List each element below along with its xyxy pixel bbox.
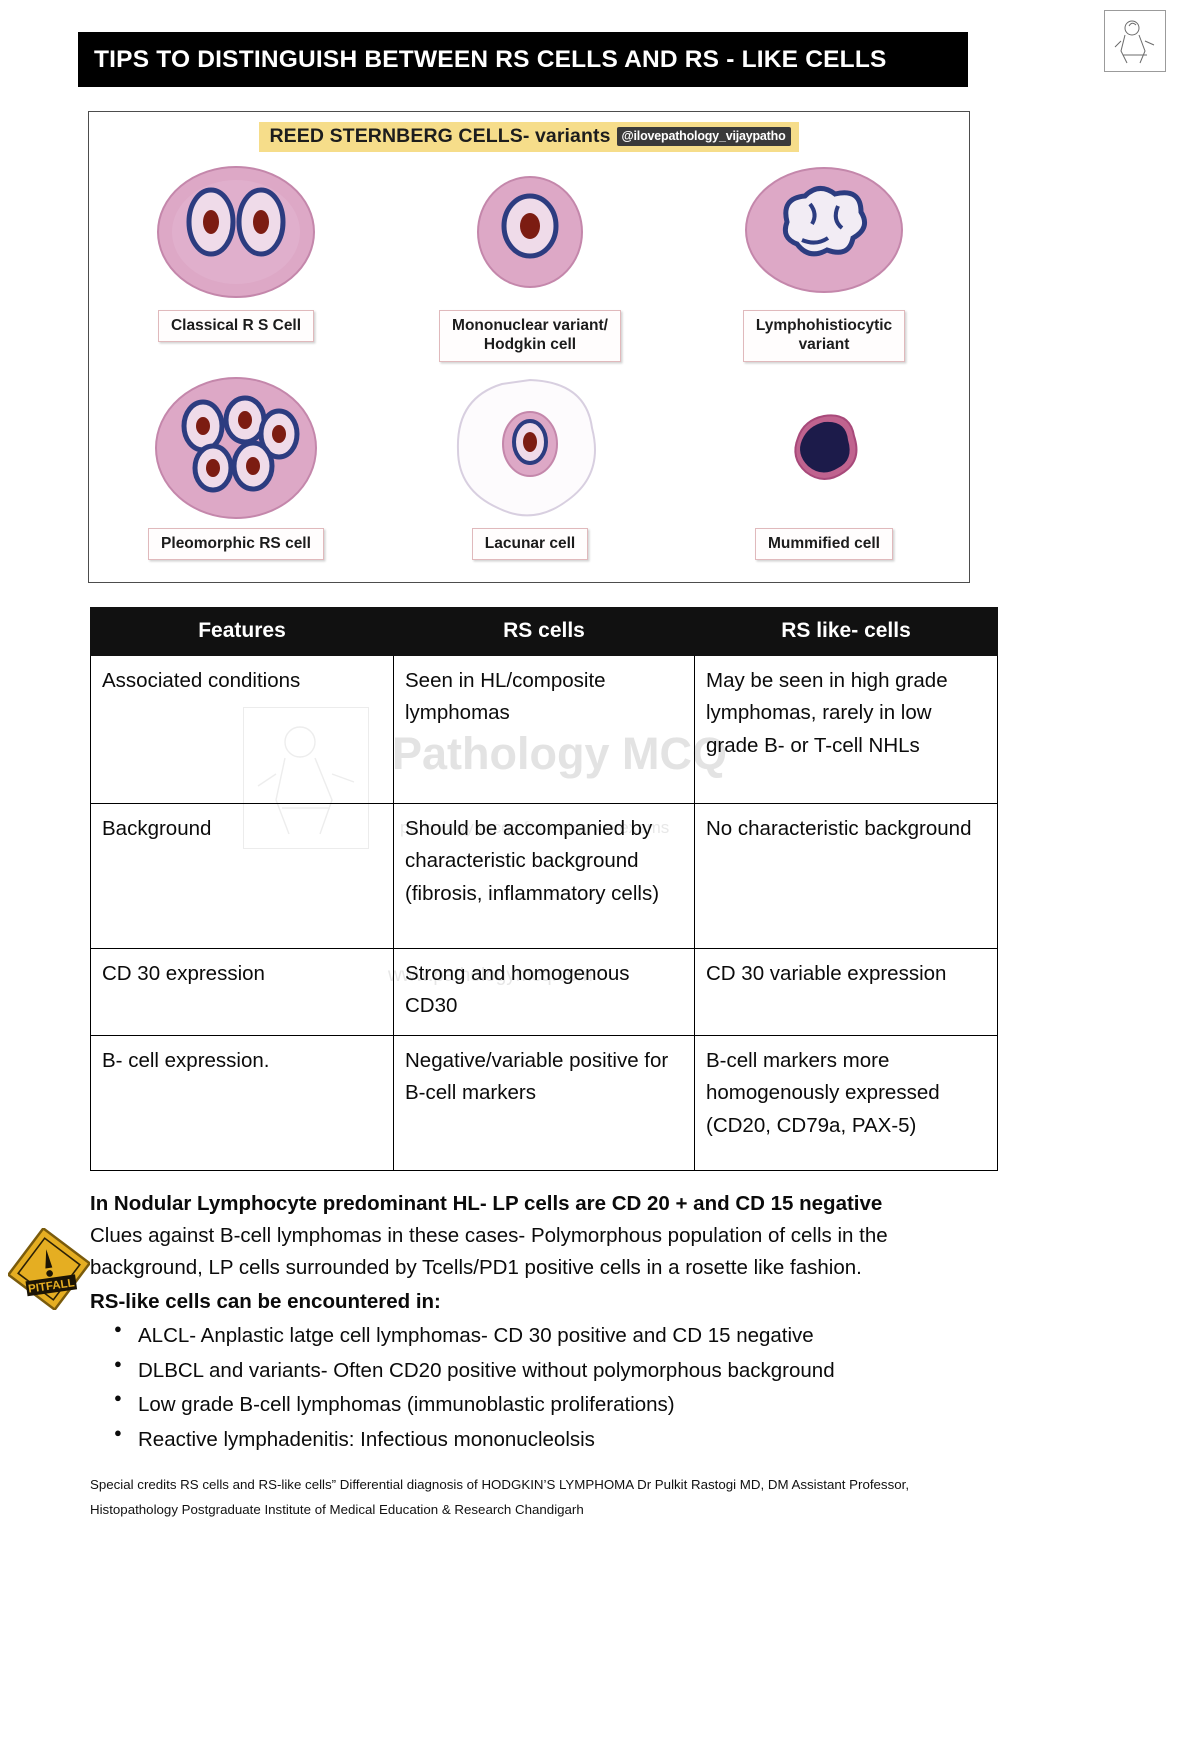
pitfall-badge: PITFALL [8, 1228, 90, 1310]
column-header-features: Features [91, 608, 394, 656]
binucleate-rs-cell-art [89, 160, 383, 310]
cell-feature: Associated conditions [91, 656, 394, 804]
cell-rs-like: No characteristic background [695, 804, 998, 949]
pitfall-heading: In Nodular Lymphocyte predominant HL- LP… [90, 1188, 980, 1220]
cell-feature: B- cell expression. [91, 1035, 394, 1170]
rs-like-conditions-list: ALCL- Anplastic latge cell lymphomas- CD… [90, 1320, 980, 1456]
cell-rs: Should be accompanied by characteristic … [394, 804, 695, 949]
figure-title: REED STERNBERG CELLS- variants@ilovepath… [259, 122, 798, 152]
table-header: Features RS cells RS like- cells [91, 608, 998, 656]
cell-feature: CD 30 expression [91, 949, 394, 1036]
table-header-row: Features RS cells RS like- cells [91, 608, 998, 656]
page-title: TIPS TO DISTINGUISH BETWEEN RS CELLS AND… [78, 46, 887, 74]
cell-rs-like: B-cell markers more homogenously express… [695, 1035, 998, 1170]
cell-feature: Background [91, 804, 394, 949]
cell-variant-mummified: Mummified cell [677, 368, 971, 560]
cell-rs-like: May be seen in high grade lymphomas, rar… [695, 656, 998, 804]
figure-watermark-handle: @ilovepathology_vijaypatho [617, 127, 791, 146]
cell-variant-label: Mononuclear variant/ Hodgkin cell [439, 310, 621, 362]
list-item: Reactive lymphadenitis: Infectious monon… [138, 1424, 980, 1456]
cell-variant-label: Pleomorphic RS cell [148, 528, 324, 560]
cell-variant-classical-rs: Classical R S Cell [89, 160, 383, 342]
mummified-cell-art [677, 368, 971, 528]
rs-like-list-heading: RS-like cells can be encountered in: [90, 1286, 980, 1318]
mononuclear-hodgkin-cell-art [383, 160, 677, 310]
pleomorphic-multinucleate-cell-art [89, 368, 383, 528]
cell-rs-like: CD 30 variable expression [695, 949, 998, 1036]
column-header-rs-like-cells: RS like- cells [695, 608, 998, 656]
document-page: TIPS TO DISTINGUISH BETWEEN RS CELLS AND… [0, 0, 1181, 1747]
cell-variant-lacunar: Lacunar cell [383, 368, 677, 560]
table-row: Associated conditions Seen in HL/composi… [91, 656, 998, 804]
cell-variant-label: Lacunar cell [472, 528, 588, 560]
credits-footnote: Special credits RS cells and RS-like cel… [90, 1473, 950, 1522]
figure-title-text: REED STERNBERG CELLS- variants [269, 125, 610, 147]
table-row: B- cell expression. Negative/variable po… [91, 1035, 998, 1170]
cell-variant-pleomorphic-rs: Pleomorphic RS cell [89, 368, 383, 560]
cell-rs: Negative/variable positive for B-cell ma… [394, 1035, 695, 1170]
cell-rs: Seen in HL/composite lymphomas [394, 656, 695, 804]
pitfall-body: Clues against B-cell lymphomas in these … [90, 1220, 980, 1284]
page-header: TIPS TO DISTINGUISH BETWEEN RS CELLS AND… [0, 0, 1181, 108]
list-item: Low grade B-cell lymphomas (immunoblasti… [138, 1389, 980, 1421]
cell-variant-label: Lymphohistiocytic variant [743, 310, 905, 362]
cell-rs: Strong and homogenous CD30 [394, 949, 695, 1036]
list-item: ALCL- Anplastic latge cell lymphomas- CD… [138, 1320, 980, 1352]
cell-variant-grid: Classical R S Cell Mononuclear variant/ … [89, 160, 971, 580]
list-item: DLBCL and variants- Often CD20 positive … [138, 1355, 980, 1387]
cell-variant-lymphohistiocytic: Lymphohistiocytic variant [677, 160, 971, 362]
cell-variant-mononuclear-hodgkin: Mononuclear variant/ Hodgkin cell [383, 160, 677, 362]
cell-variant-label: Classical R S Cell [158, 310, 314, 342]
lacunar-cell-art [383, 368, 677, 528]
pathology-mcq-logo-icon [1104, 10, 1166, 72]
table-row: Background Should be accompanied by char… [91, 804, 998, 949]
lymphohistiocytic-popcorn-cell-art [677, 160, 971, 310]
pitfall-text-block: In Nodular Lymphocyte predominant HL- LP… [90, 1188, 980, 1522]
figure-title-row: REED STERNBERG CELLS- variants@ilovepath… [89, 122, 969, 152]
table-body: Associated conditions Seen in HL/composi… [91, 656, 998, 1171]
reed-sternberg-figure-panel: REED STERNBERG CELLS- variants@ilovepath… [88, 111, 970, 583]
column-header-rs-cells: RS cells [394, 608, 695, 656]
rs-vs-rs-like-comparison-table: Features RS cells RS like- cells Associa… [90, 607, 998, 1171]
page-title-bar: TIPS TO DISTINGUISH BETWEEN RS CELLS AND… [78, 32, 968, 87]
table-row: CD 30 expression Strong and homogenous C… [91, 949, 998, 1036]
cell-variant-label: Mummified cell [755, 528, 893, 560]
